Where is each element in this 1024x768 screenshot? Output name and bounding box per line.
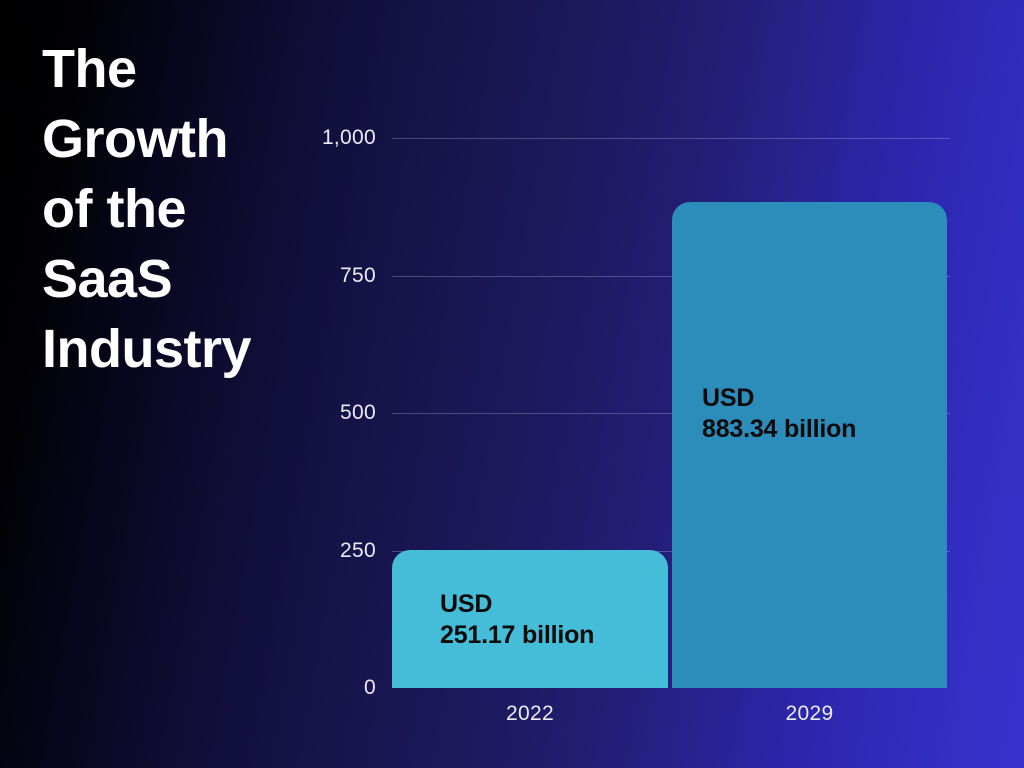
y-axis-tick-1000: 1,000 xyxy=(286,126,376,150)
bar-2029[interactable] xyxy=(672,202,947,688)
infographic-poster: The Growth of the SaaS Industry 1,000 75… xyxy=(0,0,1024,768)
y-axis-tick-250: 250 xyxy=(286,539,376,563)
y-axis-tick-0: 0 xyxy=(286,676,376,700)
bar-value-label-2022: USD 251.17 billion xyxy=(440,589,594,651)
x-axis-label-2022: 2022 xyxy=(392,702,668,726)
bar-value-label-2029: USD 883.34 billion xyxy=(702,383,856,445)
bar-chart: 1,000 750 500 250 0 USD 251.17 billion U… xyxy=(0,0,1024,768)
x-axis-label-2029: 2029 xyxy=(672,702,947,726)
y-axis-tick-500: 500 xyxy=(286,401,376,425)
y-axis-tick-750: 750 xyxy=(286,264,376,288)
gridline-1000 xyxy=(392,138,950,139)
